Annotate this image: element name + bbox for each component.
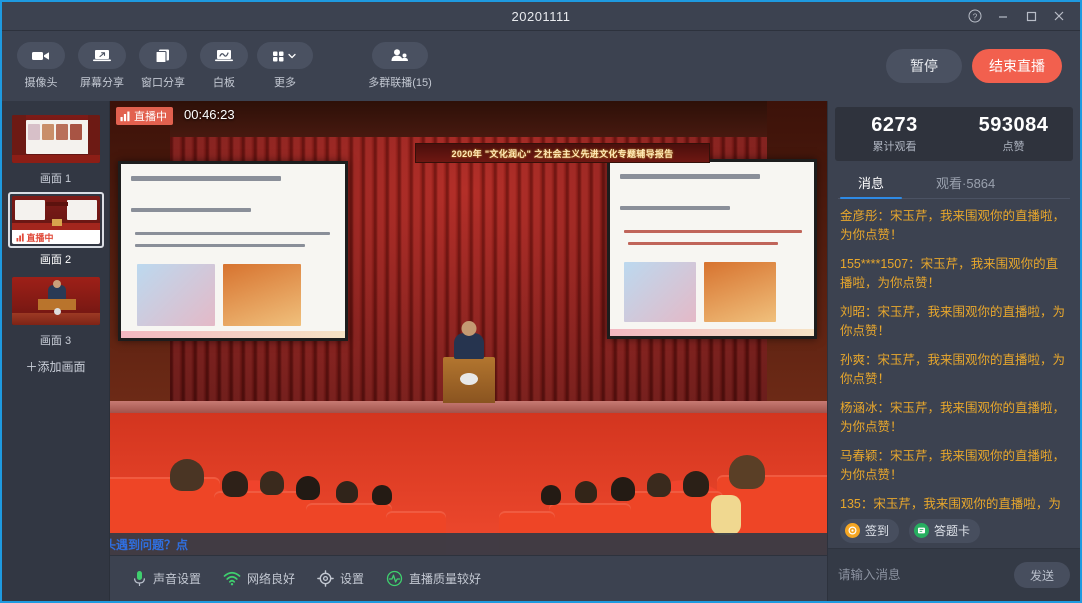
camera-icon (17, 42, 65, 69)
status-quality[interactable]: 直播质量较好 (386, 570, 481, 587)
signal-bars-icon (120, 111, 131, 122)
notice-ticker: 头遇到问题？点 (110, 533, 827, 555)
hall-scene: 2020年 "文化润心" 之社会主义先进文化专题辅导报告 (110, 101, 827, 555)
scene-thumbnail-3[interactable] (8, 273, 104, 329)
signal-quality-icon (386, 570, 403, 587)
grid-more-icon (257, 42, 313, 69)
window-controls: ? (962, 5, 1080, 27)
message-input[interactable] (838, 568, 1006, 582)
stat-total-views: 6273 累计观看 (835, 114, 954, 154)
podium (443, 357, 495, 403)
scene-rail: 画面 1 直播中 (2, 101, 110, 601)
live-status-label: 直播中 (134, 108, 167, 124)
status-quality-label: 直播质量较好 (409, 570, 481, 587)
tool-window-share-label: 窗口分享 (141, 74, 185, 90)
wifi-icon (223, 571, 241, 586)
projection-screen-left (118, 161, 348, 341)
stat-likes-value: 593084 (954, 114, 1073, 137)
microphone-icon (132, 570, 147, 587)
scene-caption-3: 画面 3 (8, 332, 104, 348)
svg-text:?: ? (973, 12, 978, 21)
add-scene-button[interactable]: ＋添加画面 (25, 358, 85, 375)
event-banner-text: 2020年 "文化润心" 之社会主义先进文化专题辅导报告 (452, 147, 674, 160)
message-item: 135：宋玉芹，我来围观你的直播啦，为你点赞！ (840, 495, 1068, 513)
projection-screen-right (607, 159, 817, 339)
tool-whiteboard[interactable]: 白板 (197, 42, 251, 90)
users-icon (372, 42, 428, 69)
scene-caption-2: 画面 2 (8, 251, 104, 267)
app-body: 画面 1 直播中 (2, 101, 1080, 601)
stage-column: 2020年 "文化润心" 之社会主义先进文化专题辅导报告 (110, 101, 827, 601)
scene-thumbnail-2[interactable]: 直播中 (8, 192, 104, 248)
minimize-button[interactable] (990, 5, 1016, 27)
live-broadcast-window: 20201111 ? 摄像头 (0, 0, 1082, 603)
scene-preview-2: 直播中 (12, 196, 100, 244)
message-item: 155****1507：宋玉芹，我来围观你的直播啦，为你点赞！ (840, 255, 1068, 293)
status-settings-label: 设置 (340, 570, 364, 587)
status-network[interactable]: 网络良好 (223, 570, 295, 587)
stat-total-views-label: 累计观看 (835, 138, 954, 154)
tool-multicast[interactable]: 多群联播(15) (361, 42, 439, 90)
tool-camera[interactable]: 摄像头 (14, 42, 68, 90)
answer-card-button[interactable]: 答题卡 (909, 519, 980, 543)
pause-button[interactable]: 暂停 (886, 49, 962, 83)
message-item: 刘昭：宋玉芹，我来围观你的直播啦，为你点赞！ (840, 303, 1068, 341)
message-item: 马春颖：宋玉芹，我来围观你的直播啦，为你点赞！ (840, 447, 1068, 485)
answer-card-icon (914, 523, 929, 538)
scene-item-1[interactable]: 画面 1 (8, 111, 104, 186)
panel-tabs: 消息 观看·5864 (828, 161, 1080, 199)
notice-ticker-text: 头遇到问题？点 (110, 536, 188, 553)
main-toolbar: 摄像头 屏幕分享 窗口分享 白板 (2, 31, 1080, 101)
video-preview[interactable]: 2020年 "文化润心" 之社会主义先进文化专题辅导报告 (110, 101, 827, 555)
tool-more-label: 更多 (274, 74, 296, 90)
tool-multicast-label: 多群联播(15) (368, 74, 432, 90)
speaker-person (454, 333, 484, 359)
maximize-button[interactable] (1018, 5, 1044, 27)
scene-thumbnail-1[interactable] (8, 111, 104, 167)
status-audio-label: 声音设置 (153, 570, 201, 587)
checkin-button[interactable]: 签到 (840, 519, 899, 543)
scene-live-label-2: 直播中 (27, 231, 54, 244)
stat-likes-label: 点赞 (954, 138, 1073, 154)
gear-icon (317, 570, 334, 587)
tab-viewers[interactable]: 观看·5864 (910, 173, 1021, 199)
broadcast-controls: 暂停 结束直播 (886, 49, 1068, 83)
stats-panel: 6273 累计观看 593084 点赞 (835, 107, 1073, 161)
broadcast-timer: 00:46:23 (184, 107, 235, 122)
tool-camera-label: 摄像头 (25, 74, 58, 90)
screen-share-icon (78, 42, 126, 69)
whiteboard-icon (200, 42, 248, 69)
tool-screen-share-label: 屏幕分享 (80, 74, 124, 90)
message-item: 杨涵冰：宋玉芹，我来围观你的直播啦，为你点赞！ (840, 399, 1068, 437)
quick-action-bar: 签到 答题卡 (828, 513, 1080, 549)
title-bar: 20201111 ? (2, 2, 1080, 31)
stat-total-views-value: 6273 (835, 114, 954, 137)
message-item: 金彦彤：宋玉芹，我来围观你的直播啦，为你点赞！ (840, 207, 1068, 245)
scene-item-2[interactable]: 直播中 画面 2 (8, 192, 104, 267)
scene-preview-3 (12, 277, 100, 325)
message-composer: 发送 (828, 549, 1080, 601)
help-button[interactable]: ? (962, 5, 988, 27)
tool-whiteboard-label: 白板 (213, 74, 235, 90)
tool-more[interactable]: 更多 (258, 42, 312, 90)
tool-group: 摄像头 屏幕分享 窗口分享 白板 (14, 42, 439, 90)
scene-live-badge-2: 直播中 (12, 230, 100, 244)
status-audio-settings[interactable]: 声音设置 (132, 570, 201, 587)
live-status-badge: 直播中 (116, 107, 173, 125)
tool-screen-share[interactable]: 屏幕分享 (75, 42, 129, 90)
scene-item-3[interactable]: 画面 3 (8, 273, 104, 348)
window-title: 20201111 (2, 9, 1080, 24)
send-button[interactable]: 发送 (1014, 562, 1070, 588)
scene-caption-1: 画面 1 (8, 170, 104, 186)
window-share-icon (139, 42, 187, 69)
message-item: 孙爽：宋玉芹，我来围观你的直播啦，为你点赞！ (840, 351, 1068, 389)
tool-window-share[interactable]: 窗口分享 (136, 42, 190, 90)
tab-messages[interactable]: 消息 (832, 173, 910, 199)
event-banner: 2020年 "文化润心" 之社会主义先进文化专题辅导报告 (415, 143, 710, 163)
close-button[interactable] (1046, 5, 1072, 27)
scene-preview-1 (12, 115, 100, 163)
side-panel: 6273 累计观看 593084 点赞 消息 观看·5864 金彦彤：宋玉芹，我… (827, 101, 1080, 601)
checkin-icon (845, 523, 860, 538)
checkin-label: 签到 (865, 522, 889, 539)
status-network-label: 网络良好 (247, 570, 295, 587)
message-list[interactable]: 金彦彤：宋玉芹，我来围观你的直播啦，为你点赞！ 155****1507：宋玉芹，… (828, 199, 1080, 513)
stat-likes: 593084 点赞 (954, 114, 1073, 154)
end-broadcast-button[interactable]: 结束直播 (972, 49, 1062, 83)
status-bar: 声音设置 网络良好 设置 直播质量较好 (110, 555, 827, 601)
answer-card-label: 答题卡 (934, 522, 970, 539)
status-settings[interactable]: 设置 (317, 570, 364, 587)
